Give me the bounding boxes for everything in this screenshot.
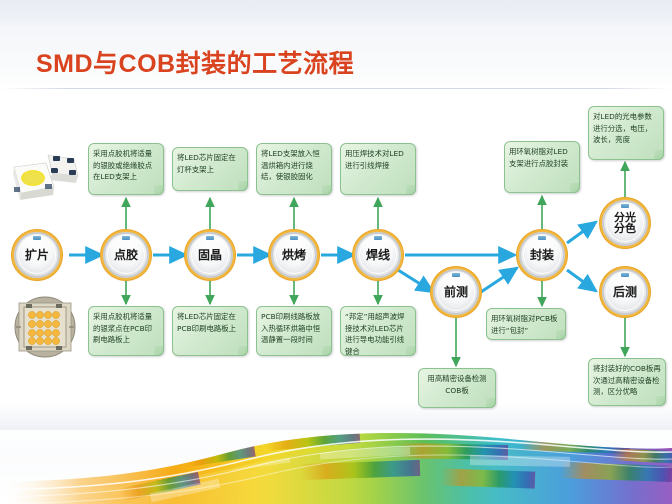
page-title: SMD与COB封装的工艺流程 — [36, 44, 354, 80]
slide-canvas: SMD与COB封装的工艺流程 — [0, 0, 672, 504]
note-hanxian-cob: “邦定”用超声波焊接技术对LED芯片进行导电功能引线键合 — [340, 306, 416, 356]
node-houce-label: 后测 — [613, 287, 637, 298]
header-band — [0, 0, 672, 30]
node-houce[interactable]: 后测 — [602, 269, 648, 315]
note-qiance: 用高精密设备检测COB板 — [418, 368, 496, 408]
smd-led-package-photo — [8, 143, 82, 205]
note-dianjiao-cob: 采用点胶机将适量的银浆点在PCB印刷电路板上 — [88, 306, 164, 356]
node-hanxian-label: 焊线 — [366, 250, 390, 261]
node-fenguang-fense-label: 分光 分色 — [614, 212, 636, 234]
node-dianjiao[interactable]: 点胶 — [103, 232, 149, 278]
node-qiance[interactable]: 前测 — [433, 269, 479, 315]
note-fenguang-fense: 对LED的光电参数进行分选，电压，波长，亮度 — [588, 106, 664, 160]
node-fenguang-fense[interactable]: 分光 分色 — [602, 200, 648, 246]
node-hanxian[interactable]: 焊线 — [355, 232, 401, 278]
node-fengzhuang-label: 封装 — [530, 250, 554, 261]
cob-led-module-photo — [8, 294, 82, 360]
node-qiance-label: 前测 — [444, 287, 468, 298]
node-fenguang-fense-line2: 分色 — [614, 222, 636, 235]
note-hanxian-smd: 用压焊技术对LED进行引线焊接 — [340, 143, 416, 195]
note-gujing-smd: 将LED芯片固定在灯杯支架上 — [172, 147, 248, 191]
note-gujing-cob: 将LED芯片固定在PCB印刷电路板上 — [172, 306, 248, 356]
note-houce: 将封装好的COB板再次通过高精密设备检测，区分优略 — [588, 358, 666, 406]
node-dianjiao-label: 点胶 — [114, 250, 138, 261]
decorative-swoosh — [0, 404, 672, 504]
node-hongkao[interactable]: 烘烤 — [271, 232, 317, 278]
node-fengzhuang[interactable]: 封装 — [519, 232, 565, 278]
note-fengzhuang-cob: 用环氧树脂对PCB板进行“包封” — [486, 308, 566, 340]
note-hongkao-smd: 将LED支架放入恒温烘箱内进行烧结，使银胶固化 — [256, 143, 332, 195]
title-divider-line — [0, 88, 672, 89]
note-fengzhuang-smd: 用环氧树脂对LED支架进行点胶封装 — [504, 141, 580, 193]
note-dianjiao-smd: 采用点胶机将适量的银胶或绝缘胶点在LED支架上 — [88, 143, 164, 195]
node-gujing[interactable]: 固晶 — [187, 232, 233, 278]
note-hongkao-cob: PCB印刷线路板放入热循环烘箱中恒温静置一段时间 — [256, 306, 332, 356]
node-gujing-label: 固晶 — [198, 250, 222, 261]
node-hongkao-label: 烘烤 — [282, 250, 306, 261]
node-kuopian[interactable]: 扩片 — [14, 232, 60, 278]
node-kuopian-label: 扩片 — [25, 250, 49, 261]
